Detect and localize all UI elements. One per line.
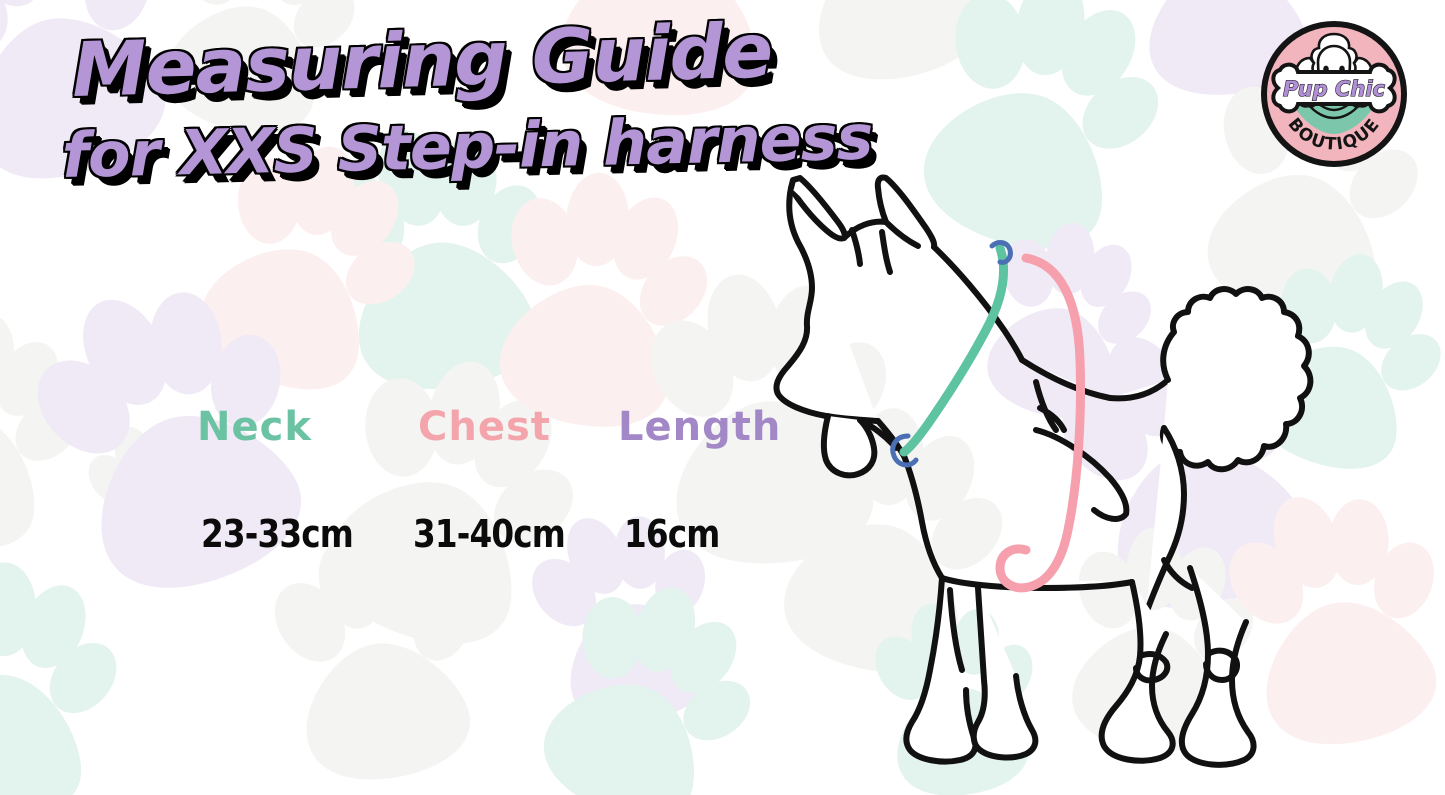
paw-print-decoration (136, 0, 386, 154)
measurement-label-chest: Chest (418, 404, 551, 450)
paw-print-decoration (0, 546, 143, 795)
chest-measurement-line (1000, 258, 1081, 588)
measurement-value-length: 16cm (624, 512, 719, 556)
measurement-labels-row: Neck Chest Length (0, 404, 800, 464)
brand-logo[interactable]: Pup Chic BOUTIQUE (1258, 18, 1410, 170)
measurement-label-length: Length (618, 404, 781, 450)
measurement-value-neck: 23-33cm (201, 512, 353, 556)
logo-brand-name: Pup Chic (1283, 77, 1385, 101)
neck-measurement-line (904, 248, 1004, 452)
measurement-value-chest: 31-40cm (413, 512, 565, 556)
measurement-values-row: 23-33cm 31-40cm 16cm (0, 512, 800, 568)
dog-illustration (760, 130, 1380, 770)
measuring-guide-poster: Measuring Guide for XXS Step-in harness … (0, 0, 1445, 795)
paw-print-decoration (528, 0, 820, 128)
measurement-label-neck: Neck (197, 404, 312, 450)
